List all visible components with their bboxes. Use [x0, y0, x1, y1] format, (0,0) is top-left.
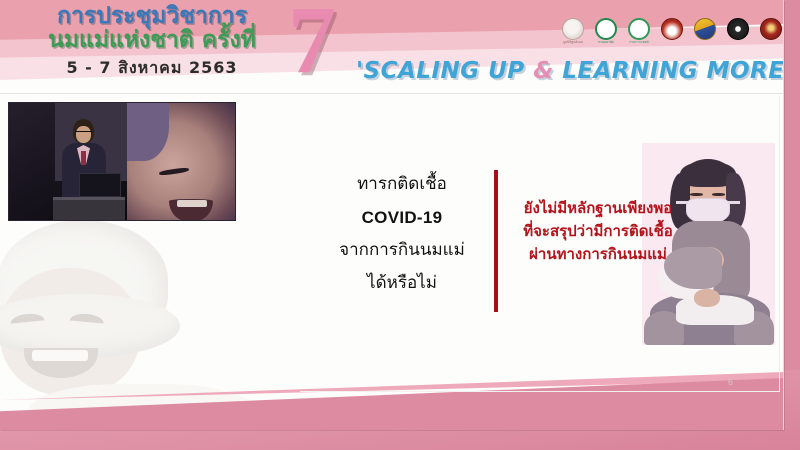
lamp-icon	[727, 18, 749, 40]
speaker-tie	[81, 151, 86, 165]
slide-canvas: 7 การประชุมวิชาการ นมแม่แห่งชาติ ครั้งที…	[0, 0, 784, 430]
answer-line-3: ผ่านทางการกินนมแม่	[500, 243, 696, 266]
slide-number: 6	[728, 377, 733, 387]
mother-hand	[694, 289, 720, 307]
health-department-logo: กรมการแพทย์	[626, 18, 652, 44]
question-line-4: ได้หรือไม่	[322, 267, 482, 300]
conference-date: 5 - 7 สิงหาคม 2563	[16, 56, 288, 81]
laptop-icon	[79, 173, 121, 197]
conference-title-block: การประชุมวิชาการ นมแม่แห่งชาติ ครั้งที่ …	[16, 4, 288, 81]
question-text-block: ทารกติดเชื้อ COVID-19 จากการกินนมแม่ ได้…	[322, 168, 482, 301]
mother-eye-right	[712, 193, 725, 196]
answer-line-2: ที่จะสรุปว่ามีการติดเชื้อ	[500, 220, 696, 243]
garuda-icon	[694, 18, 716, 40]
pagoda-icon	[661, 18, 683, 40]
question-line-3: จากการกินนมแม่	[322, 234, 482, 267]
royal-seal-icon	[562, 18, 584, 40]
mother-eye-left	[690, 193, 703, 196]
speaker-video-feed[interactable]	[8, 102, 236, 221]
question-line-2: COVID-19	[322, 201, 482, 234]
health-dept-caption: กรมการแพทย์	[629, 40, 649, 45]
moph-caption: กรมอนามัย	[596, 40, 616, 45]
caduceus-icon	[595, 18, 617, 40]
banner-divider	[0, 93, 784, 94]
conference-title-line2: นมแม่แห่งชาติ ครั้งที่	[16, 28, 288, 53]
glasses-icon	[75, 131, 92, 135]
crest-icon	[760, 18, 782, 40]
conference-edition-number: 7	[288, 0, 336, 88]
podium	[53, 197, 125, 221]
organizer-logo-strip: มูลนิธิศูนย์นมแม่ กรมอนามัย กรมการแพทย์	[560, 18, 784, 44]
projected-baby-teeth	[177, 200, 207, 207]
slide-header-banner: 7 การประชุมวิชาการ นมแม่แห่งชาติ ครั้งที…	[0, 0, 784, 94]
watermark-teeth	[32, 350, 88, 361]
conference-tagline: 'SCALING UP & LEARNING MORE'	[356, 58, 776, 84]
caduceus-icon	[628, 18, 650, 40]
presentation-window: 7 การประชุมวิชาการ นมแม่แห่งชาติ ครั้งที…	[0, 0, 800, 450]
slide-right-edge	[783, 0, 784, 430]
tagline-suffix: LEARNING MORE'	[554, 58, 784, 84]
nursing-council-logo	[725, 18, 751, 44]
tagline-ampersand: &	[533, 58, 554, 84]
answer-line-1: ยังไม่มีหลักฐานเพียงพอ	[500, 197, 696, 220]
royal-garuda-emblem-logo	[692, 18, 718, 44]
royal-seal-logo: มูลนิธิศูนย์นมแม่	[560, 18, 586, 44]
royal-seal-caption: มูลนิธิศูนย์นมแม่	[563, 40, 583, 45]
ministry-of-public-health-logo: กรมอนามัย	[593, 18, 619, 44]
conference-title-line1: การประชุมวิชาการ	[16, 4, 288, 29]
red-vertical-divider	[494, 170, 498, 312]
medical-council-logo	[758, 18, 784, 44]
question-line-1: ทารกติดเชื้อ	[322, 168, 482, 201]
tagline-prefix: 'SCALING UP	[356, 58, 533, 84]
smiling-baby-watermark	[0, 216, 294, 430]
thai-pediatric-society-logo	[659, 18, 685, 44]
answer-text-block: ยังไม่มีหลักฐานเพียงพอ ที่จะสรุปว่ามีการ…	[500, 197, 696, 265]
